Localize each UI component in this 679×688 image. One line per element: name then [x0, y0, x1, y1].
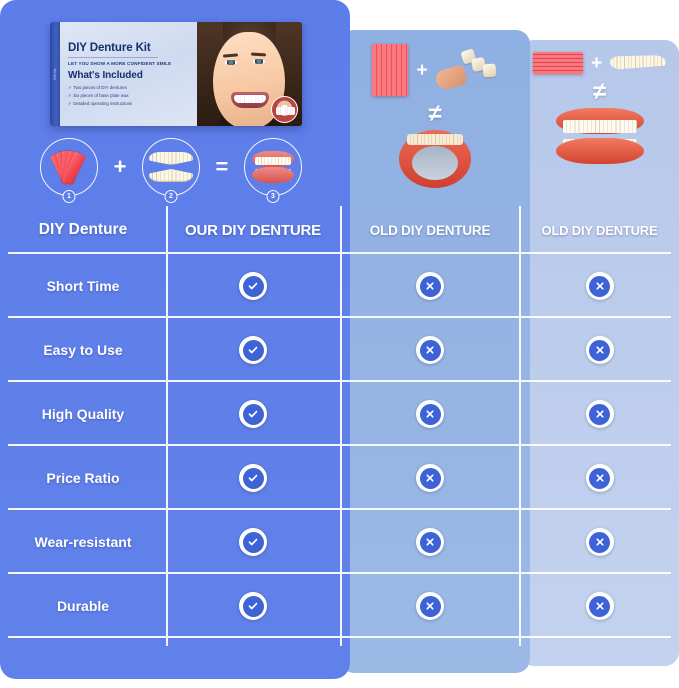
feature-label: Wear-resistant	[34, 534, 131, 550]
check-icon	[239, 464, 267, 492]
cross-icon	[586, 528, 614, 556]
table-row: Price Ratio	[0, 446, 679, 510]
cross-icon	[416, 592, 444, 620]
table-row: High Quality	[0, 382, 679, 446]
feature-label: Easy to Use	[43, 342, 122, 358]
comparison-infographic: DIY Kit DIY Denture Kit LET YOU SHOW A M…	[0, 0, 679, 688]
feature-cell: High Quality	[0, 382, 166, 446]
header-cell-old-diy-denture-2: OLD DIY DENTURE	[520, 206, 679, 254]
value-cell-old-1	[340, 318, 520, 382]
table-header-row: DIY Denture OUR DIY DENTURE OLD DIY DENT…	[0, 206, 679, 254]
eyebrow-left	[223, 53, 238, 57]
check-icon	[239, 272, 267, 300]
check-icon	[239, 592, 267, 620]
smiling-mouth	[231, 92, 269, 108]
value-cell-old-2	[520, 254, 679, 318]
header-label: OUR DIY DENTURE	[185, 222, 321, 239]
value-cell-old-2	[520, 510, 679, 574]
cross-icon	[416, 464, 444, 492]
value-cell-old-2	[520, 382, 679, 446]
comparison-table: DIY Denture OUR DIY DENTURE OLD DIY DENT…	[0, 206, 679, 646]
table-row: Easy to Use	[0, 318, 679, 382]
box-spine-label: DIY Kit	[53, 68, 57, 79]
eye-left	[225, 60, 237, 65]
not-equal-icon: ≠	[428, 102, 441, 126]
box-divider	[68, 57, 158, 58]
box-list-item-label: Detailed operating instructions	[73, 101, 132, 106]
table-row: Short Time	[0, 254, 679, 318]
box-front: DIY Denture Kit LET YOU SHOW A MORE CONF…	[60, 22, 302, 126]
plus-icon: +	[114, 156, 127, 178]
equals-icon: =	[216, 156, 229, 178]
step-2: 2	[142, 138, 200, 196]
feature-label: Short Time	[47, 278, 120, 294]
steps-row: 1 + 2 = 3	[40, 134, 302, 200]
cross-icon	[416, 528, 444, 556]
eye-right	[253, 59, 265, 64]
teeth-arch-icon	[610, 52, 666, 74]
table-row: Durable	[0, 574, 679, 638]
wax-strip-stack-icon	[533, 52, 583, 74]
feature-cell: Wear-resistant	[0, 510, 166, 574]
cross-icon	[586, 464, 614, 492]
denture-inset-icon	[271, 96, 298, 123]
step-number: 2	[164, 190, 177, 203]
header-cell-our-diy-denture: OUR DIY DENTURE	[166, 206, 340, 254]
wax-block-icon	[372, 44, 408, 96]
feature-label: Price Ratio	[46, 470, 119, 486]
finished-denture-icon: 3	[244, 138, 302, 196]
step-number: 1	[63, 190, 76, 203]
table-row: Wear-resistant	[0, 510, 679, 574]
cross-icon	[416, 400, 444, 428]
value-cell-our	[166, 510, 340, 574]
cross-icon	[586, 272, 614, 300]
header-cell-diy-denture: DIY Denture	[0, 206, 166, 254]
feature-label: Durable	[57, 598, 109, 614]
step-3: 3	[244, 138, 302, 196]
value-cell-our	[166, 318, 340, 382]
value-cell-old-2	[520, 318, 679, 382]
value-cell-old-2	[520, 574, 679, 638]
check-icon: ✓	[68, 85, 72, 90]
plus-icon: +	[416, 61, 427, 80]
box-list-item-label: Two pieces of DIY dentures	[73, 85, 127, 90]
feature-cell: Easy to Use	[0, 318, 166, 382]
step-number: 3	[266, 190, 279, 203]
cross-icon	[416, 272, 444, 300]
check-icon	[239, 336, 267, 364]
smiling-woman-photo	[197, 22, 302, 126]
cross-icon	[586, 592, 614, 620]
value-cell-old-1	[340, 254, 520, 318]
value-cell-old-1	[340, 510, 520, 574]
box-list-item-label: Six pieces of base plate wax	[73, 93, 128, 98]
hand-holding-teeth-icon	[436, 46, 498, 94]
eyebrow-right	[251, 52, 266, 56]
header-label: OLD DIY DENTURE	[370, 223, 491, 238]
feature-label: High Quality	[42, 406, 124, 422]
check-icon: ✓	[68, 101, 72, 106]
value-cell-our	[166, 446, 340, 510]
old-full-denture-icon	[556, 108, 644, 164]
cross-icon	[586, 400, 614, 428]
cross-icon	[586, 336, 614, 364]
check-icon	[239, 528, 267, 556]
not-equal-icon: ≠	[593, 80, 606, 104]
ingredients-row: +	[520, 52, 679, 74]
old-lower-denture-icon	[399, 130, 471, 188]
product-box-image: DIY Kit DIY Denture Kit LET YOU SHOW A M…	[50, 22, 302, 126]
old-denture-illustration-1: + ≠	[340, 44, 530, 206]
old-denture-illustration-2: + ≠	[520, 52, 679, 206]
step-1: 1	[40, 138, 98, 196]
teeth	[234, 95, 266, 103]
value-cell-our	[166, 254, 340, 318]
cross-icon	[416, 336, 444, 364]
teeth-arch-icon: 2	[142, 138, 200, 196]
plus-icon: +	[591, 54, 602, 73]
feature-cell: Price Ratio	[0, 446, 166, 510]
box-spine: DIY Kit	[50, 22, 60, 126]
row-divider	[8, 636, 671, 638]
value-cell-old-1	[340, 446, 520, 510]
check-icon	[239, 400, 267, 428]
feature-cell: Durable	[0, 574, 166, 638]
value-cell-our	[166, 574, 340, 638]
value-cell-old-2	[520, 446, 679, 510]
feature-cell: Short Time	[0, 254, 166, 318]
ingredients-row: +	[340, 44, 530, 96]
header-label: DIY Denture	[39, 221, 127, 239]
value-cell-our	[166, 382, 340, 446]
value-cell-old-1	[340, 382, 520, 446]
check-icon: ✓	[68, 93, 72, 98]
value-cell-old-1	[340, 574, 520, 638]
header-label: OLD DIY DENTURE	[542, 223, 658, 238]
hero-section: DIY Kit DIY Denture Kit LET YOU SHOW A M…	[0, 0, 340, 206]
wax-strips-icon: 1	[40, 138, 98, 196]
header-cell-old-diy-denture-1: OLD DIY DENTURE	[340, 206, 520, 254]
